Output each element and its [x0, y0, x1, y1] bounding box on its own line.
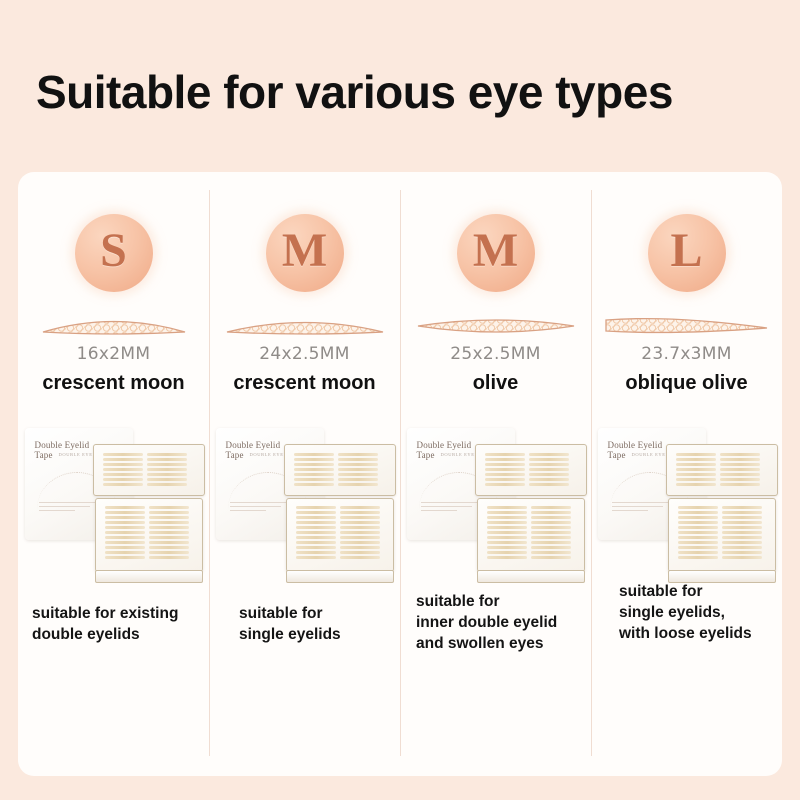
case-lid — [93, 444, 205, 496]
lid-tape-strips — [294, 453, 378, 486]
caption-line: with loose eyelids — [619, 624, 782, 645]
size-badge-letter: M — [473, 227, 518, 275]
shape-name-label: olive — [400, 372, 591, 395]
case-base — [95, 570, 203, 583]
product-package-m1[interactable]: Double Eyelid Tape DOUBLE EYELID TAPE — [209, 424, 400, 588]
caption-m1: suitable for single eyelids — [239, 604, 400, 646]
case-lid — [666, 444, 778, 496]
case-tray — [286, 498, 394, 572]
tape-shape-crescent-moon-m-icon — [209, 302, 400, 346]
tray-tape-strips — [678, 506, 762, 559]
size-label: 25x2.5MM — [400, 344, 591, 364]
caption-line: suitable for — [416, 592, 591, 613]
size-badge-s[interactable]: S — [75, 214, 153, 292]
case-tray — [477, 498, 585, 572]
size-label: 16x2MM — [18, 344, 209, 364]
columns-container: S 16x2MM cre — [18, 172, 782, 776]
caption-line: inner double eyelid — [416, 613, 591, 634]
shape-name-label: crescent moon — [209, 372, 400, 395]
product-package-m2[interactable]: Double Eyelid Tape DOUBLE EYELID TAPE — [400, 424, 591, 588]
package-case — [93, 444, 203, 582]
package-case — [666, 444, 776, 582]
tape-shape-olive-icon — [400, 302, 591, 346]
size-column-l[interactable]: L 23.7x3MM o — [591, 172, 782, 776]
caption-line: double eyelids — [32, 625, 209, 646]
shape-name-label: oblique olive — [591, 372, 782, 395]
size-column-m1[interactable]: M 24x2.5MM c — [209, 172, 400, 776]
caption-line: single eyelids — [239, 625, 400, 646]
caption-s: suitable for existing double eyelids — [32, 604, 209, 646]
caption-line: suitable for — [619, 582, 782, 603]
case-base — [477, 570, 585, 583]
size-badge-letter: M — [282, 227, 327, 275]
caption-line: single eyelids, — [619, 603, 782, 624]
size-label: 24x2.5MM — [209, 344, 400, 364]
size-badge-l[interactable]: L — [648, 214, 726, 292]
case-tray — [95, 498, 203, 572]
case-tray — [668, 498, 776, 572]
shape-name-label: crescent moon — [18, 372, 209, 395]
badge-wrap-s: S — [18, 214, 209, 292]
tape-shape-oblique-olive-icon — [591, 302, 782, 346]
tape-shape-crescent-moon-s-icon — [18, 302, 209, 346]
page-title: Suitable for various eye types — [36, 67, 776, 118]
eye-types-card: S 16x2MM cre — [18, 172, 782, 776]
tray-tape-strips — [487, 506, 571, 559]
badge-wrap-m2: M — [400, 214, 591, 292]
size-badge-letter: S — [100, 227, 127, 275]
caption-line: suitable for existing — [32, 604, 209, 625]
caption-line: suitable for — [239, 604, 400, 625]
case-lid — [475, 444, 587, 496]
tray-tape-strips — [296, 506, 380, 559]
size-badge-m1[interactable]: M — [266, 214, 344, 292]
size-badge-letter: L — [670, 227, 702, 275]
product-package-s[interactable]: Double Eyelid Tape DOUBLE EYELID TAPE — [18, 424, 209, 588]
caption-line: and swollen eyes — [416, 634, 591, 655]
size-column-m2[interactable]: M 25x2.5MM o — [400, 172, 591, 776]
package-case — [475, 444, 585, 582]
size-label: 23.7x3MM — [591, 344, 782, 364]
badge-wrap-m1: M — [209, 214, 400, 292]
caption-m2: suitable for inner double eyelid and swo… — [416, 592, 591, 655]
lid-tape-strips — [485, 453, 569, 486]
size-badge-m2[interactable]: M — [457, 214, 535, 292]
caption-l: suitable for single eyelids, with loose … — [619, 582, 782, 645]
product-package-l[interactable]: Double Eyelid Tape DOUBLE EYELID TAPE — [591, 424, 782, 588]
badge-wrap-l: L — [591, 214, 782, 292]
tray-tape-strips — [105, 506, 189, 559]
case-lid — [284, 444, 396, 496]
lid-tape-strips — [103, 453, 187, 486]
lid-tape-strips — [676, 453, 760, 486]
size-column-s[interactable]: S 16x2MM cre — [18, 172, 209, 776]
package-case — [284, 444, 394, 582]
case-base — [286, 570, 394, 583]
